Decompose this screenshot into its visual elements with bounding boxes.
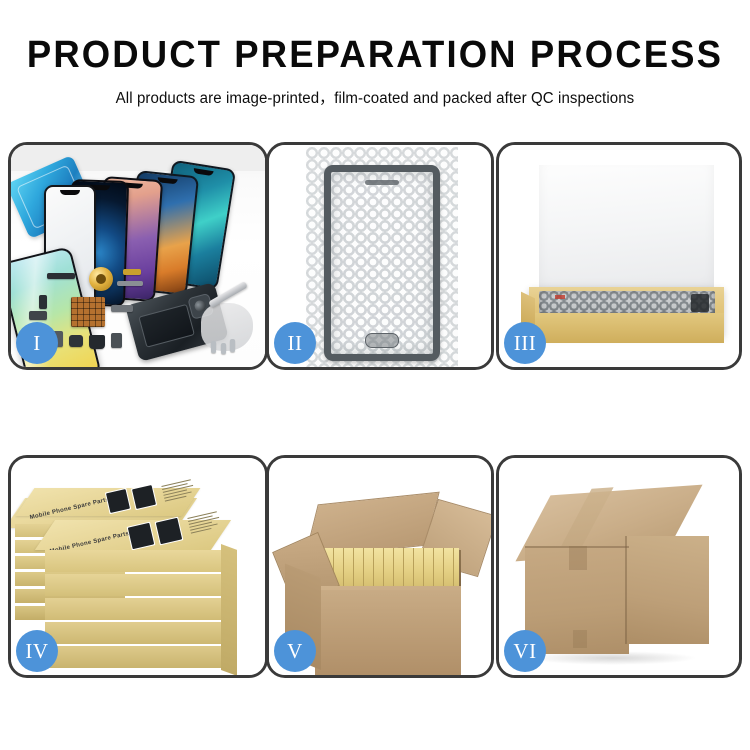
spare-part <box>111 333 122 348</box>
gold-coil-part <box>89 267 113 291</box>
spare-part <box>89 335 105 349</box>
kraft-box-edge <box>45 622 231 644</box>
white-box-lid <box>539 165 714 293</box>
carton-front-face <box>315 590 461 675</box>
bubble-wrap-background <box>306 147 458 367</box>
copper-chip-part <box>71 297 105 327</box>
spare-part <box>39 295 47 309</box>
spare-part <box>211 341 216 353</box>
carton-tab <box>573 630 587 648</box>
kraft-box-edge <box>45 550 231 572</box>
process-step-4[interactable]: Mobile Phone Spare Parts Mobile Phone Sp… <box>8 455 268 678</box>
kraft-box-edge <box>45 598 231 620</box>
spare-part <box>230 339 235 352</box>
step-badge-2: II <box>274 322 316 364</box>
carton-side-face <box>625 536 709 644</box>
process-step-3[interactable]: III <box>496 142 742 370</box>
hand-holding-tool <box>201 303 253 351</box>
spare-part <box>69 335 83 347</box>
step-badge-5: V <box>274 630 316 672</box>
step-badge-4: IV <box>16 630 58 672</box>
spare-part <box>117 281 143 286</box>
wrapped-phone-screen <box>324 165 440 361</box>
spare-part <box>123 269 141 275</box>
spare-part <box>221 343 226 354</box>
spare-part <box>111 305 133 312</box>
spare-part <box>29 311 47 320</box>
process-step-2[interactable]: II <box>266 142 494 370</box>
kraft-stack-side <box>221 544 237 675</box>
process-step-grid: I II III <box>0 0 750 750</box>
kraft-box-edge <box>45 646 231 668</box>
step-badge-1: I <box>16 322 58 364</box>
process-step-1[interactable]: I <box>8 142 268 370</box>
process-step-6[interactable]: VI <box>496 455 742 678</box>
step-badge-3: III <box>504 322 546 364</box>
carton-seam <box>625 536 627 644</box>
spare-part <box>47 273 75 279</box>
step-badge-6: VI <box>504 630 546 672</box>
process-step-5[interactable]: V <box>266 455 494 678</box>
carton-tab <box>569 546 587 570</box>
kraft-box-edge <box>45 574 231 596</box>
